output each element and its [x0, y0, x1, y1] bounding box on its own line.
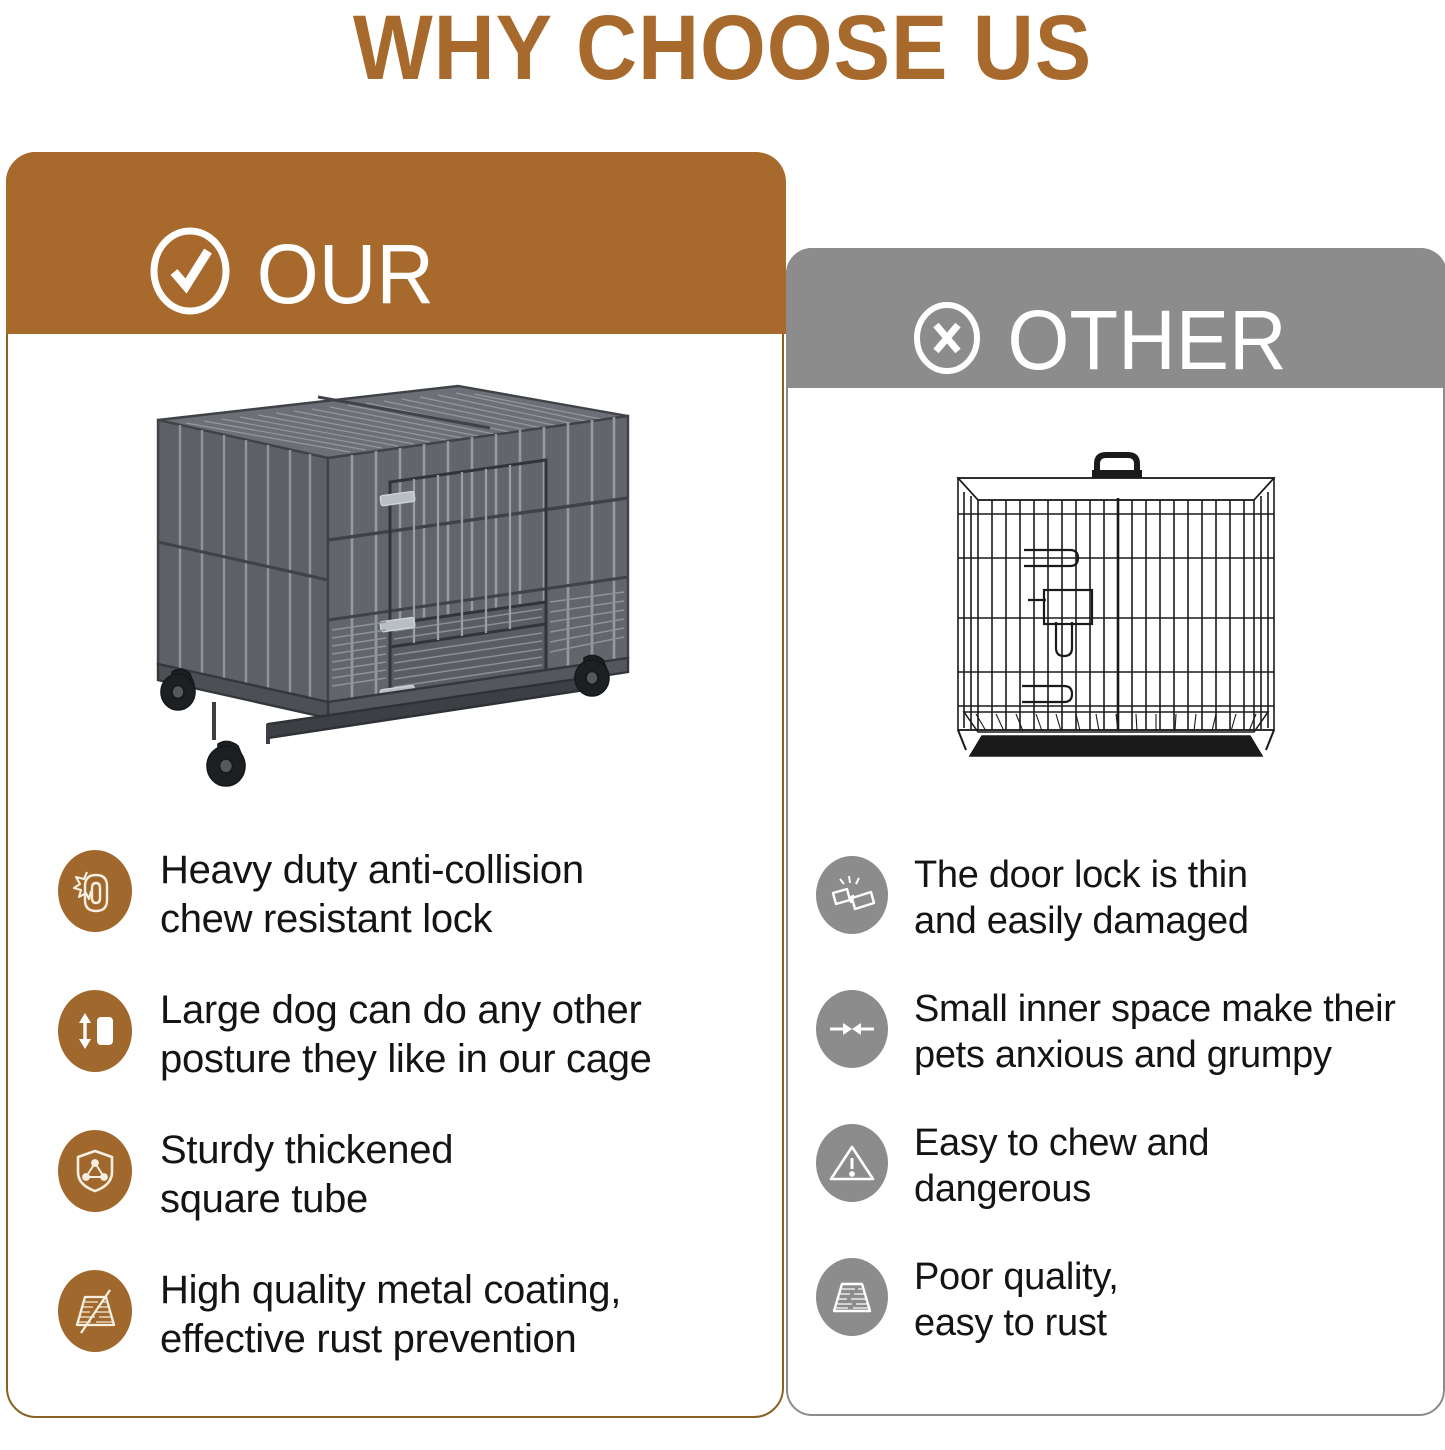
our-feature-item: Heavy duty anti-collision chew resistant…	[58, 844, 758, 974]
feature-line: Small inner space make their	[914, 986, 1396, 1032]
feature-line: dangerous	[914, 1166, 1209, 1212]
our-product-image	[128, 372, 648, 807]
feature-line: easy to rust	[914, 1300, 1119, 1346]
other-product-image	[916, 440, 1316, 775]
broken-lock-icon	[816, 856, 888, 934]
feature-line: Heavy duty anti-collision	[160, 846, 584, 895]
feature-line: chew resistant lock	[160, 895, 584, 944]
our-feature-item: High quality metal coating, effective ru…	[58, 1264, 758, 1394]
our-header-label: OUR	[256, 232, 433, 316]
shield-strength-icon	[58, 1130, 132, 1212]
feature-line: posture they like in our cage	[160, 1035, 652, 1084]
page-title: WHY CHOOSE US	[58, 0, 1387, 101]
other-feature-item: Small inner space make their pets anxiou…	[816, 984, 1426, 1108]
other-header-label: OTHER	[1007, 298, 1286, 382]
other-feature-text: The door lock is thin and easily damaged	[914, 850, 1249, 945]
rust-prone-coating-icon	[816, 1258, 888, 1336]
feature-line: Large dog can do any other	[160, 986, 652, 1035]
warning-triangle-icon	[816, 1124, 888, 1202]
our-feature-text: Sturdy thickened square tube	[160, 1124, 453, 1224]
our-feature-text: Large dog can do any other posture they …	[160, 984, 652, 1084]
other-feature-item: Easy to chew and dangerous	[816, 1118, 1426, 1242]
our-feature-list: Heavy duty anti-collision chew resistant…	[58, 844, 758, 1404]
feature-line: Poor quality,	[914, 1254, 1119, 1300]
our-comparison-card: OUR	[6, 152, 784, 1418]
other-comparison-card: OTHER	[786, 248, 1445, 1416]
our-card-header: OUR	[6, 152, 786, 334]
feature-line: Sturdy thickened	[160, 1126, 453, 1175]
feature-line: High quality metal coating,	[160, 1266, 621, 1315]
small-space-arrows-icon	[816, 990, 888, 1068]
other-feature-list: The door lock is thin and easily damaged…	[816, 850, 1426, 1386]
other-feature-text: Poor quality, easy to rust	[914, 1252, 1119, 1347]
our-feature-item: Large dog can do any other posture they …	[58, 984, 758, 1114]
check-circle-icon	[144, 225, 236, 322]
feature-line: square tube	[160, 1175, 453, 1224]
other-feature-item: The door lock is thin and easily damaged	[816, 850, 1426, 974]
our-feature-text: Heavy duty anti-collision chew resistant…	[160, 844, 584, 944]
our-feature-item: Sturdy thickened square tube	[58, 1124, 758, 1254]
our-feature-text: High quality metal coating, effective ru…	[160, 1264, 621, 1364]
feature-line: pets anxious and grumpy	[914, 1032, 1396, 1078]
anti-collision-lock-icon	[58, 850, 132, 932]
feature-line: effective rust prevention	[160, 1315, 621, 1364]
other-card-header: OTHER	[786, 248, 1445, 388]
large-space-arrows-icon	[58, 990, 132, 1072]
feature-line: and easily damaged	[914, 898, 1249, 944]
other-feature-text: Small inner space make their pets anxiou…	[914, 984, 1396, 1079]
other-feature-item: Poor quality, easy to rust	[816, 1252, 1426, 1376]
other-feature-text: Easy to chew and dangerous	[914, 1118, 1209, 1213]
feature-line: Easy to chew and	[914, 1120, 1209, 1166]
x-circle-icon	[910, 301, 984, 380]
feature-line: The door lock is thin	[914, 852, 1249, 898]
rust-prevention-coating-icon	[58, 1270, 132, 1352]
